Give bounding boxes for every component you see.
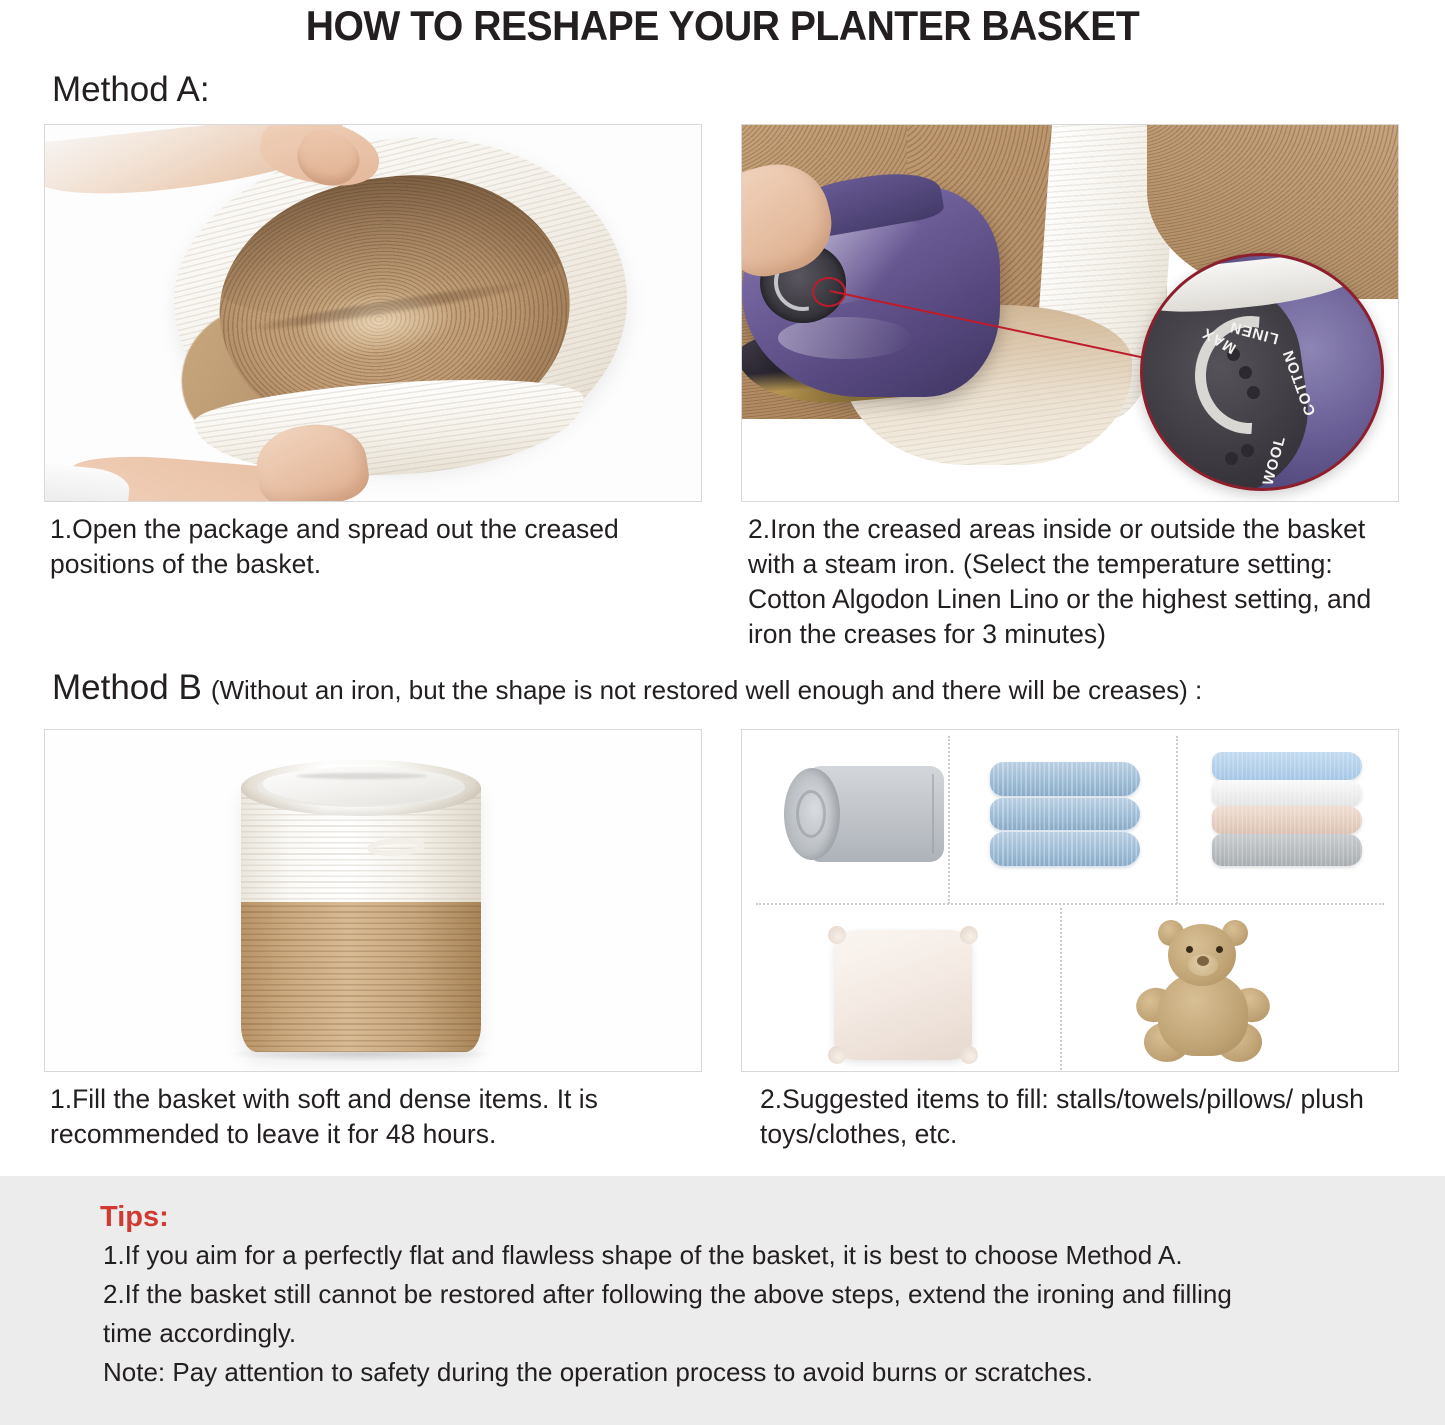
blanket-edge-line (932, 774, 934, 854)
method-b-heading-note: (Without an iron, but the shape is not r… (211, 675, 1202, 706)
cloth-fold (297, 773, 427, 779)
stack-of-folded-clothes (1212, 752, 1362, 870)
magnified-dial-callout: MAX LINEN COTTON WOOL (1140, 253, 1384, 491)
pillow-corner (828, 926, 846, 944)
method-a-heading: Method A: (52, 70, 210, 110)
clothes-layer (1212, 780, 1362, 806)
pillow-corner (828, 1046, 846, 1064)
tips-title: Tips: (100, 1198, 1445, 1236)
tips-line: Note: Pay attention to safety during the… (103, 1353, 1403, 1392)
grid-divider-vertical (1176, 736, 1178, 904)
tips-line: time accordingly. (103, 1314, 1403, 1353)
dial-dot (1247, 386, 1260, 399)
dial-dot (1225, 452, 1238, 465)
cream-pillow (834, 930, 972, 1060)
bear-eye (1216, 946, 1223, 953)
filled-rope-basket-photo (44, 729, 702, 1072)
method-a-step2-caption: 2.Iron the creased areas inside or outsi… (748, 512, 1408, 652)
fabric-texture (1212, 752, 1362, 780)
suggested-fill-items-grid (741, 729, 1399, 1072)
blanket-swirl (796, 790, 826, 838)
steam-iron-on-basket-photo: MAX LINEN COTTON WOOL (741, 124, 1399, 502)
folded-blue-towels (990, 762, 1140, 866)
towel-texture (990, 798, 1140, 830)
teddy-bear (1124, 916, 1284, 1068)
tips-line: 1.If you aim for a perfectly flat and fl… (103, 1236, 1403, 1275)
towel-texture (990, 832, 1140, 866)
method-b-heading-main: Method B (52, 668, 202, 708)
dial-dot (1241, 444, 1254, 457)
tips-line: 2.If the basket still cannot be restored… (103, 1275, 1403, 1314)
dial-dot (1239, 366, 1252, 379)
tips-panel: Tips: 1.If you aim for a perfectly flat … (0, 1176, 1445, 1425)
grid-divider-vertical (948, 736, 950, 904)
fabric-texture (1212, 834, 1362, 866)
method-b-heading: Method B (Without an iron, but the shape… (52, 668, 1202, 708)
iron-gloss-highlight-2 (778, 317, 912, 359)
method-a-step1-caption: 1.Open the package and spread out the cr… (50, 512, 700, 582)
clothes-layer (1212, 834, 1362, 866)
blanket-roll-end (784, 768, 840, 860)
clothes-layer (1212, 806, 1362, 834)
grid-divider-horizontal (756, 903, 1384, 905)
method-b-step1-caption: 1.Fill the basket with soft and dense it… (50, 1082, 710, 1152)
bear-nose (1197, 956, 1209, 966)
fabric-texture (1212, 806, 1362, 834)
bear-eye (1186, 946, 1193, 953)
hands-spreading-basket-photo (44, 124, 702, 502)
towel-layer (990, 798, 1140, 830)
towel-layer (990, 832, 1140, 866)
fabric-texture (1212, 780, 1362, 806)
towel-texture (990, 762, 1140, 796)
basket-opening (257, 767, 465, 807)
infographic-page: HOW TO RESHAPE YOUR PLANTER BASKET Metho… (0, 0, 1445, 1425)
pillow-corner (960, 1046, 978, 1064)
page-title: HOW TO RESHAPE YOUR PLANTER BASKET (51, 2, 1395, 50)
method-b-step2-caption: 2.Suggested items to fill: stalls/towels… (760, 1082, 1410, 1152)
pillow-corner (960, 926, 978, 944)
rope-basket (241, 754, 481, 1052)
clothes-layer (1212, 752, 1362, 780)
rolled-grey-blanket (784, 766, 944, 862)
towel-layer (990, 762, 1140, 796)
grid-divider-vertical (1060, 908, 1062, 1070)
